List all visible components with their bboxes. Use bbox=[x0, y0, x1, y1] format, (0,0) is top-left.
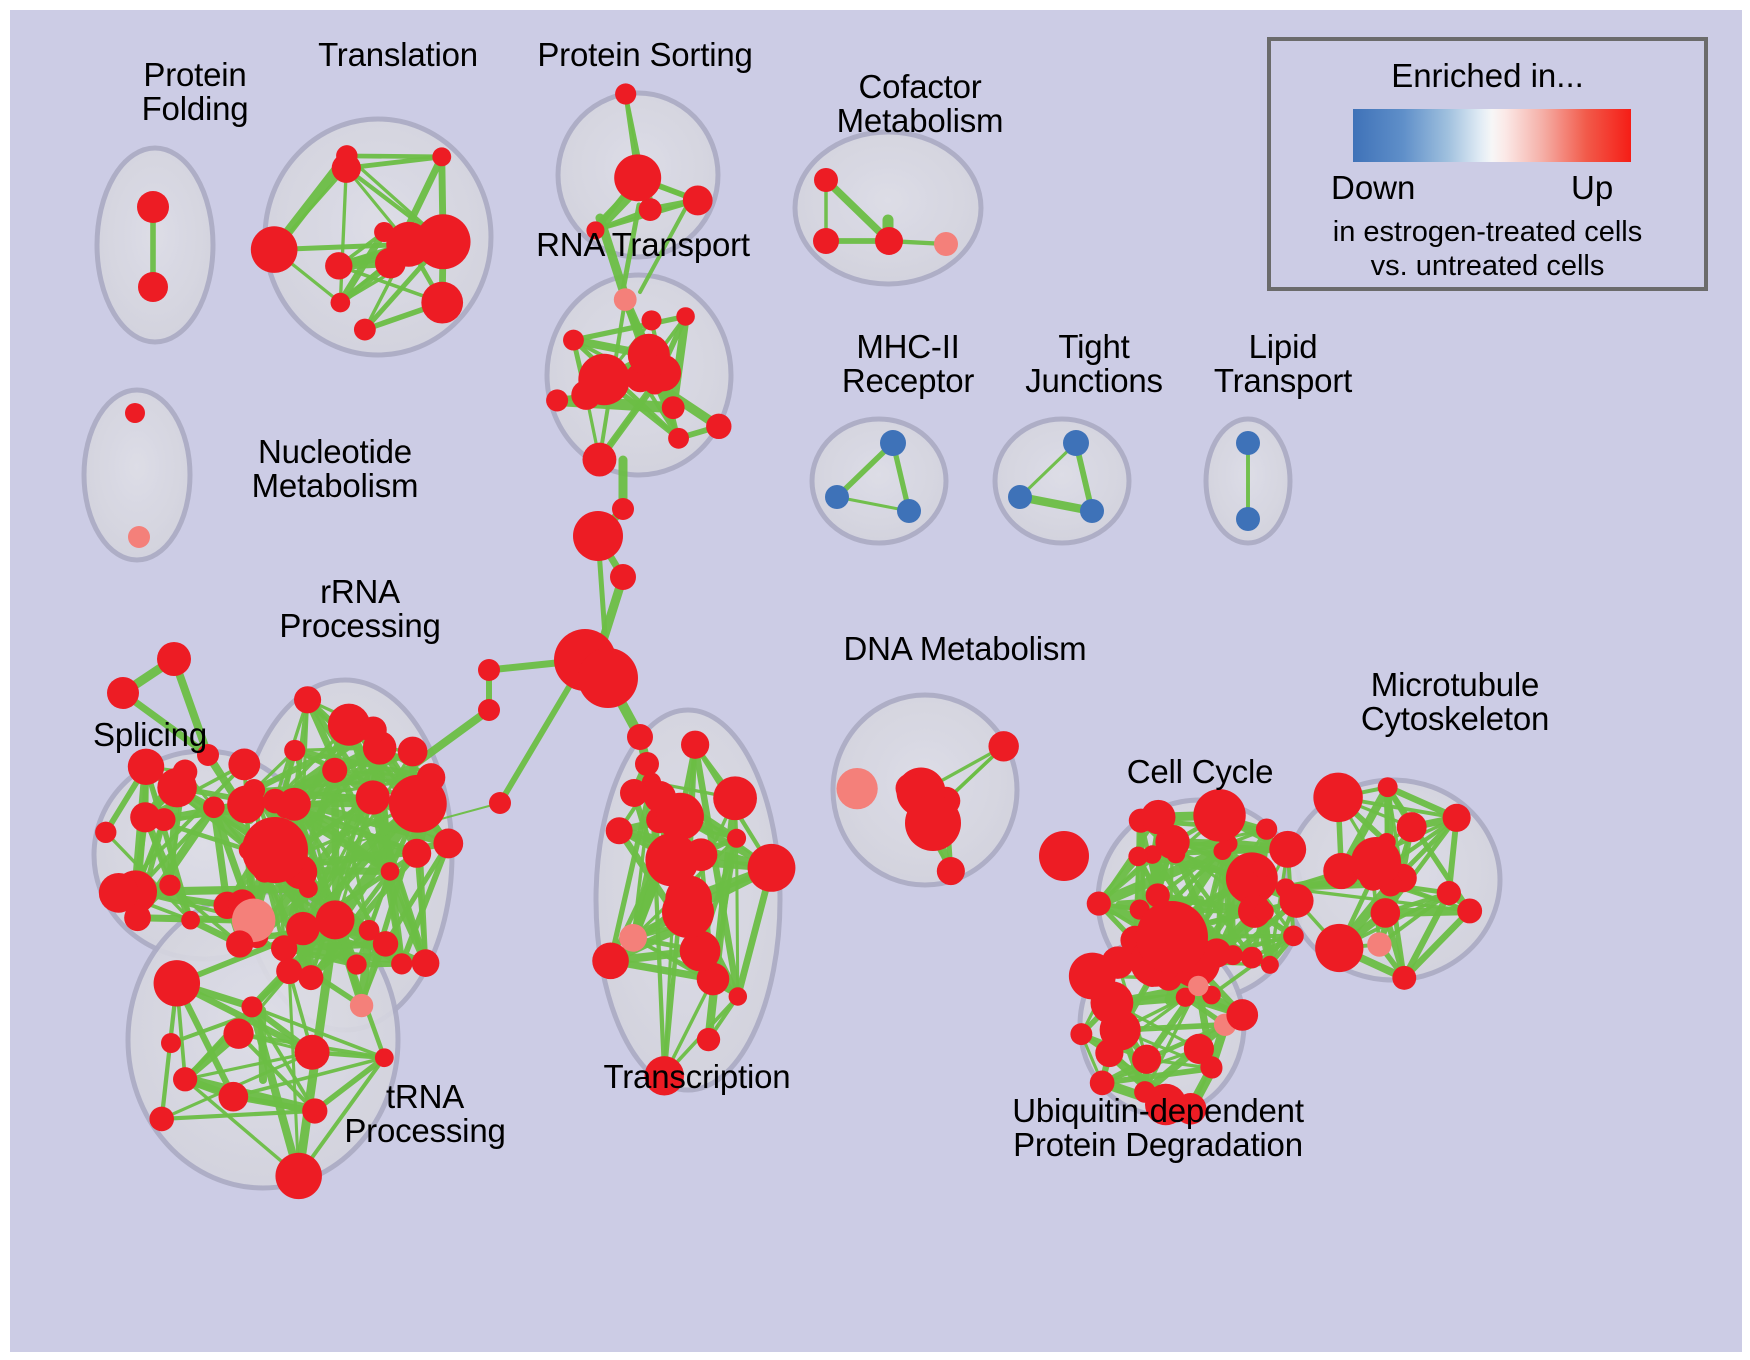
network-node[interactable] bbox=[1039, 831, 1089, 881]
network-node[interactable] bbox=[360, 716, 387, 743]
network-node[interactable] bbox=[1236, 431, 1260, 455]
cluster-label-protein-sorting: Protein Sorting bbox=[500, 38, 790, 72]
network-node[interactable] bbox=[125, 403, 145, 423]
network-node[interactable] bbox=[1457, 898, 1482, 923]
network-edge bbox=[1228, 844, 1233, 955]
network-node[interactable] bbox=[1141, 800, 1175, 834]
network-node[interactable] bbox=[412, 949, 440, 977]
network-node[interactable] bbox=[336, 145, 357, 166]
network-node[interactable] bbox=[644, 781, 676, 813]
network-node[interactable] bbox=[1202, 1058, 1222, 1078]
network-node[interactable] bbox=[157, 642, 191, 676]
cluster-label-microtubule-cytoskeleton: Microtubule Cytoskeleton bbox=[1300, 668, 1610, 737]
network-node[interactable] bbox=[897, 499, 921, 523]
network-node[interactable] bbox=[681, 731, 709, 759]
network-edge bbox=[262, 1010, 263, 1080]
network-node[interactable] bbox=[1378, 777, 1398, 797]
network-node[interactable] bbox=[1223, 945, 1243, 965]
network-node[interactable] bbox=[635, 752, 659, 776]
network-node[interactable] bbox=[421, 282, 463, 324]
network-node[interactable] bbox=[226, 930, 253, 957]
network-node[interactable] bbox=[1313, 773, 1362, 822]
network-node[interactable] bbox=[128, 749, 164, 785]
network-node[interactable] bbox=[905, 795, 961, 851]
cluster-label-cofactor-metabolism: Cofactor Metabolism bbox=[785, 70, 1055, 139]
network-node[interactable] bbox=[219, 1082, 249, 1112]
cluster-ellipse-tight-junctions bbox=[995, 419, 1129, 543]
network-node[interactable] bbox=[1095, 1039, 1123, 1067]
network-node[interactable] bbox=[1063, 430, 1089, 456]
network-node[interactable] bbox=[284, 740, 305, 761]
network-node[interactable] bbox=[706, 414, 731, 439]
network-node[interactable] bbox=[227, 786, 265, 824]
cluster-label-rrna-processing: rRNA Processing bbox=[235, 575, 485, 644]
network-node[interactable] bbox=[662, 886, 714, 938]
network-node[interactable] bbox=[1136, 901, 1208, 973]
network-node[interactable] bbox=[203, 796, 225, 818]
network-node[interactable] bbox=[934, 232, 958, 256]
network-node[interactable] bbox=[402, 839, 431, 868]
cluster-ellipse-cofactor-metabolism bbox=[795, 132, 981, 284]
network-node[interactable] bbox=[1070, 1023, 1092, 1045]
network-node[interactable] bbox=[1008, 485, 1032, 509]
network-node[interactable] bbox=[398, 737, 428, 767]
network-node[interactable] bbox=[107, 677, 139, 709]
cluster-label-ubiquitin-protein-degradation: Ubiquitin-dependent Protein Degradation bbox=[993, 1094, 1323, 1163]
legend-down-label: Down bbox=[1331, 169, 1415, 207]
network-node[interactable] bbox=[614, 288, 637, 311]
network-node[interactable] bbox=[316, 900, 355, 939]
legend-title: Enriched in... bbox=[1271, 57, 1704, 95]
network-node[interactable] bbox=[161, 1033, 181, 1053]
network-node[interactable] bbox=[295, 1035, 330, 1070]
network-node[interactable] bbox=[1351, 837, 1401, 887]
network-node[interactable] bbox=[299, 879, 318, 898]
network-node[interactable] bbox=[1132, 1045, 1161, 1074]
network-node[interactable] bbox=[1443, 804, 1471, 832]
network-node[interactable] bbox=[417, 763, 446, 792]
cluster-label-dna-metabolism: DNA Metabolism bbox=[815, 632, 1115, 666]
cluster-label-lipid-transport: Lipid Transport bbox=[1173, 330, 1393, 399]
network-node[interactable] bbox=[641, 310, 661, 330]
network-node[interactable] bbox=[1367, 932, 1391, 956]
figure-canvas: Protein FoldingTranslationProtein Sortin… bbox=[0, 0, 1750, 1360]
network-node[interactable] bbox=[662, 396, 685, 419]
network-node[interactable] bbox=[433, 829, 463, 859]
network-node[interactable] bbox=[1254, 902, 1274, 922]
network-node[interactable] bbox=[1256, 818, 1277, 839]
network-node[interactable] bbox=[159, 875, 180, 896]
network-node[interactable] bbox=[124, 904, 151, 931]
cluster-ellipse-mhc-ii-receptor bbox=[812, 419, 946, 543]
cluster-label-translation: Translation bbox=[273, 38, 523, 72]
network-node[interactable] bbox=[727, 829, 746, 848]
network-node[interactable] bbox=[1315, 924, 1363, 972]
network-node[interactable] bbox=[331, 293, 351, 313]
network-node[interactable] bbox=[1276, 878, 1296, 898]
network-node[interactable] bbox=[294, 686, 321, 713]
network-node[interactable] bbox=[578, 648, 638, 708]
network-node[interactable] bbox=[620, 779, 648, 807]
network-node[interactable] bbox=[228, 749, 260, 781]
network-node[interactable] bbox=[1392, 966, 1416, 990]
network-node[interactable] bbox=[1437, 881, 1461, 905]
network-node[interactable] bbox=[223, 1019, 253, 1049]
cluster-label-cell-cycle: Cell Cycle bbox=[1090, 755, 1310, 789]
network-node[interactable] bbox=[937, 857, 965, 885]
network-node[interactable] bbox=[251, 226, 298, 273]
network-node[interactable] bbox=[645, 833, 698, 886]
network-node[interactable] bbox=[1371, 898, 1401, 928]
network-node[interactable] bbox=[1283, 926, 1304, 947]
network-node[interactable] bbox=[391, 953, 412, 974]
network-node[interactable] bbox=[1269, 831, 1306, 868]
network-node[interactable] bbox=[592, 943, 629, 980]
network-node[interactable] bbox=[489, 792, 511, 814]
network-node[interactable] bbox=[627, 724, 653, 750]
network-node[interactable] bbox=[242, 817, 308, 883]
network-node[interactable] bbox=[1241, 947, 1263, 969]
legend-box: Enriched in... Down Up in estrogen-treat… bbox=[1267, 37, 1708, 291]
network-node[interactable] bbox=[373, 931, 398, 956]
network-node[interactable] bbox=[880, 430, 906, 456]
network-node[interactable] bbox=[375, 1048, 394, 1067]
network-node[interactable] bbox=[1080, 499, 1104, 523]
legend-color-bar bbox=[1353, 109, 1631, 162]
network-node[interactable] bbox=[346, 954, 366, 974]
legend-subtitle: in estrogen-treated cells vs. untreated … bbox=[1271, 216, 1704, 283]
network-edge bbox=[347, 156, 442, 157]
network-node[interactable] bbox=[1101, 946, 1133, 978]
network-node[interactable] bbox=[1188, 976, 1208, 996]
network-node[interactable] bbox=[668, 428, 689, 449]
network-node[interactable] bbox=[478, 699, 500, 721]
network-node[interactable] bbox=[583, 443, 617, 477]
network-node[interactable] bbox=[615, 83, 636, 104]
network-node[interactable] bbox=[988, 731, 1018, 761]
cluster-label-trna-processing: tRNA Processing bbox=[300, 1080, 550, 1149]
network-node[interactable] bbox=[350, 994, 373, 1017]
network-node[interactable] bbox=[173, 1067, 197, 1091]
network-node[interactable] bbox=[386, 222, 431, 267]
legend-up-label: Up bbox=[1571, 169, 1613, 207]
network-node[interactable] bbox=[1226, 999, 1258, 1031]
network-node[interactable] bbox=[1236, 507, 1260, 531]
cluster-label-splicing: Splicing bbox=[55, 718, 245, 752]
network-node[interactable] bbox=[271, 935, 297, 961]
network-node[interactable] bbox=[676, 307, 695, 326]
network-node[interactable] bbox=[814, 168, 838, 192]
network-node[interactable] bbox=[713, 776, 757, 820]
network-node[interactable] bbox=[573, 511, 623, 561]
network-node[interactable] bbox=[813, 228, 839, 254]
network-node[interactable] bbox=[563, 330, 584, 351]
network-node[interactable] bbox=[354, 319, 376, 341]
network-node[interactable] bbox=[137, 191, 169, 223]
network-node[interactable] bbox=[729, 987, 747, 1005]
network-node[interactable] bbox=[275, 1153, 321, 1199]
network-node[interactable] bbox=[639, 198, 662, 221]
network-node[interactable] bbox=[356, 780, 390, 814]
network-node[interactable] bbox=[241, 996, 262, 1017]
network-node[interactable] bbox=[275, 797, 296, 818]
cluster-label-transcription: Transcription bbox=[562, 1060, 832, 1094]
network-node[interactable] bbox=[644, 373, 666, 395]
network-node[interactable] bbox=[128, 526, 150, 548]
network-node[interactable] bbox=[95, 822, 116, 843]
network-node[interactable] bbox=[298, 965, 323, 990]
network-node[interactable] bbox=[1128, 847, 1148, 867]
network-node[interactable] bbox=[1397, 812, 1427, 842]
network-node[interactable] bbox=[276, 958, 302, 984]
cluster-label-rna-transport: RNA Transport bbox=[498, 228, 788, 262]
network-node[interactable] bbox=[748, 844, 796, 892]
network-node[interactable] bbox=[578, 354, 629, 405]
network-node[interactable] bbox=[154, 960, 200, 1006]
cluster-label-tight-junctions: Tight Junctions bbox=[984, 330, 1204, 399]
network-node[interactable] bbox=[181, 911, 200, 930]
network-node[interactable] bbox=[130, 802, 160, 832]
network-node[interactable] bbox=[606, 817, 633, 844]
network-node[interactable] bbox=[1087, 891, 1111, 915]
network-node[interactable] bbox=[825, 485, 849, 509]
network-node[interactable] bbox=[612, 498, 634, 520]
network-node[interactable] bbox=[478, 659, 500, 681]
network-node[interactable] bbox=[683, 186, 713, 216]
cluster-label-nucleotide-metabolism: Nucleotide Metabolism bbox=[200, 435, 470, 504]
network-node[interactable] bbox=[875, 227, 903, 255]
network-node[interactable] bbox=[1193, 789, 1245, 841]
network-node[interactable] bbox=[381, 862, 400, 881]
network-node[interactable] bbox=[173, 760, 198, 785]
network-node[interactable] bbox=[546, 389, 568, 411]
network-node[interactable] bbox=[138, 272, 168, 302]
network-node[interactable] bbox=[697, 1028, 720, 1051]
network-node[interactable] bbox=[325, 252, 352, 279]
network-node[interactable] bbox=[432, 147, 451, 166]
network-node[interactable] bbox=[322, 758, 347, 783]
network-node[interactable] bbox=[614, 154, 661, 201]
network-node[interactable] bbox=[619, 924, 647, 952]
cluster-label-protein-folding: Protein Folding bbox=[85, 58, 305, 127]
network-node[interactable] bbox=[610, 564, 636, 590]
network-node[interactable] bbox=[1252, 858, 1272, 878]
network-node[interactable] bbox=[836, 768, 877, 809]
network-node[interactable] bbox=[1261, 956, 1279, 974]
network-node[interactable] bbox=[149, 1107, 174, 1132]
